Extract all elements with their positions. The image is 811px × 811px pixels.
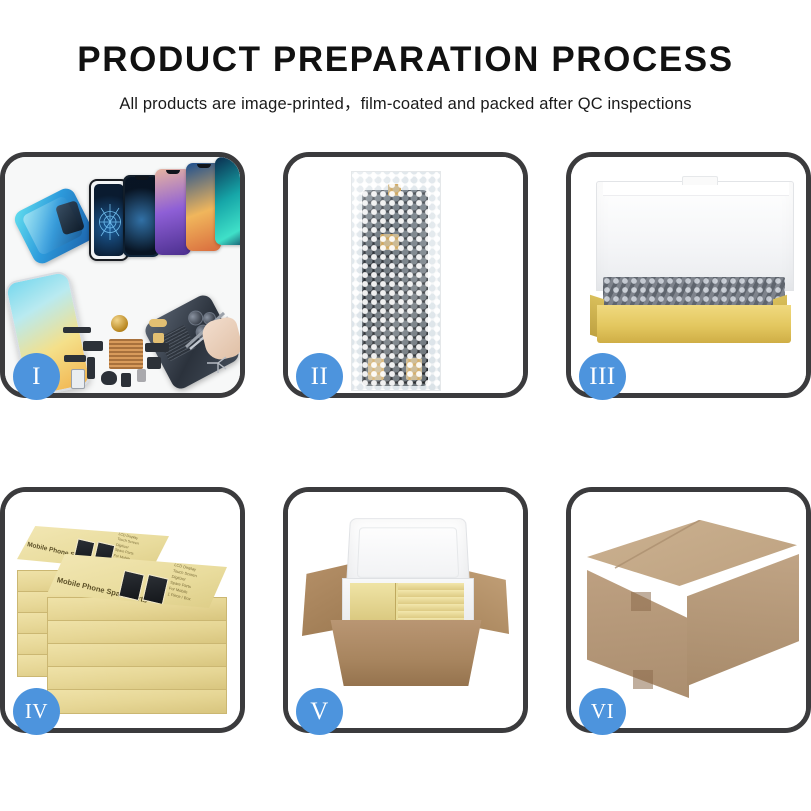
step-panel-6[interactable]: VI <box>566 487 811 733</box>
step-badge-6: VI <box>579 688 626 735</box>
step-panel-2[interactable]: II <box>283 152 528 398</box>
part-connector <box>149 319 167 327</box>
part-metal-bracket <box>137 369 146 382</box>
page-header: PRODUCT PREPARATION PROCESS All products… <box>0 0 811 114</box>
carton-tape-upper <box>631 592 651 611</box>
box-label-specs: LCD Display Touch Screen Digitizer Spare… <box>167 562 199 603</box>
part-chip-array <box>109 339 143 369</box>
stacked-box <box>47 620 227 645</box>
step-badge-4: IV <box>13 688 60 735</box>
part-camera-module <box>83 341 103 351</box>
stacked-box <box>47 666 227 691</box>
part-coin <box>111 315 128 332</box>
step-panel-1[interactable]: I <box>0 152 245 398</box>
yellow-boxes-group <box>350 583 464 623</box>
phone-teal-image <box>215 157 240 245</box>
process-step-grid: I <box>0 152 811 733</box>
part-sim-tray <box>121 373 131 387</box>
page-subtitle: All products are image-printed，film-coat… <box>0 90 811 114</box>
yellow-box-front-image <box>597 305 791 343</box>
box-label-photo <box>142 574 169 605</box>
part-speaker <box>147 357 161 369</box>
part-flex-strip <box>87 357 95 379</box>
part-ribbon <box>145 343 169 352</box>
part-bar <box>63 327 91 333</box>
foam-lid-image <box>596 181 794 291</box>
process-row-bottom: Mobile Phone Spare Parts LCD Display Tou… <box>0 487 811 733</box>
step-panel-5[interactable]: V <box>283 487 528 733</box>
part-glass-piece <box>71 369 85 389</box>
step-badge-1: I <box>13 353 60 400</box>
stacked-box <box>47 643 227 668</box>
bubble-wrap-bag-image <box>351 171 441 391</box>
small-screw-icon <box>204 349 234 375</box>
cracked-screen-icon <box>97 202 123 242</box>
step-panel-4[interactable]: Mobile Phone Spare Parts LCD Display Tou… <box>0 487 245 733</box>
step-panel-3[interactable]: III <box>566 152 811 398</box>
carton-tape-lower <box>633 670 653 689</box>
step-badge-5: V <box>296 688 343 735</box>
stacked-box <box>47 689 227 714</box>
carton-front-image <box>324 620 488 686</box>
process-row-top: I <box>0 152 811 398</box>
page-title: PRODUCT PREPARATION PROCESS <box>0 42 811 77</box>
step-badge-2: II <box>296 353 343 400</box>
step-badge-3: III <box>579 353 626 400</box>
bag-sheen <box>352 172 440 390</box>
part-gold-clip <box>153 333 164 343</box>
part-flex-cable <box>64 355 86 362</box>
part-button <box>101 371 117 385</box>
